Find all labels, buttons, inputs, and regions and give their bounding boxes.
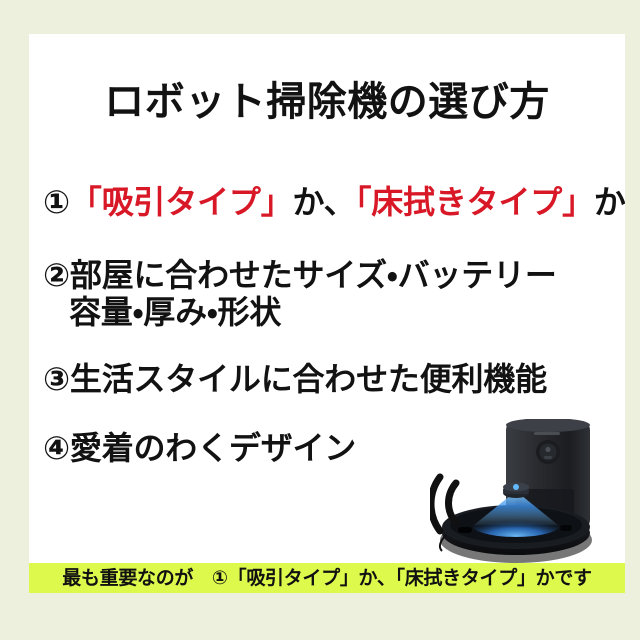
list-item-1-seg-3: 「床拭きタイプ」 bbox=[355, 184, 593, 220]
robot-vacuum-image bbox=[430, 419, 620, 564]
page-title: ロボット掃除機の選び方 bbox=[29, 82, 625, 122]
list-item-2-line-1: ②部屋に合わせたサイズ・バッテリー bbox=[43, 257, 613, 294]
list-item-1-seg-1: 「吸引タイプ」 bbox=[70, 184, 293, 220]
content-card: ロボット掃除機の選び方 ①「吸引タイプ」か、「床拭きタイプ」か ②部屋に合わせた… bbox=[29, 34, 625, 564]
list-item-1-marker: ① bbox=[43, 184, 70, 220]
list-item-3: ③生活スタイルに合わせた便利機能 bbox=[43, 361, 613, 398]
key-point-banner-text: 最も重要なのが ①「吸引タイプ」か、「床拭きタイプ」かです bbox=[62, 569, 592, 588]
list-item-3-line-1: ③生活スタイルに合わせた便利機能 bbox=[43, 361, 613, 398]
list-item-1-seg-2: か、 bbox=[293, 184, 356, 220]
list-item-1: ①「吸引タイプ」か、「床拭きタイプ」か bbox=[43, 184, 613, 221]
list-item-2: ②部屋に合わせたサイズ・バッテリー 容量・厚み・形状 bbox=[43, 257, 613, 331]
list-item-1-seg-4: か bbox=[594, 184, 625, 220]
key-point-banner: 最も重要なのが ①「吸引タイプ」か、「床拭きタイプ」かです bbox=[29, 563, 625, 593]
list-item-2-line-2: 容量・厚み・形状 bbox=[43, 294, 613, 331]
infographic-root: ロボット掃除機の選び方 ①「吸引タイプ」か、「床拭きタイプ」か ②部屋に合わせた… bbox=[0, 0, 640, 640]
